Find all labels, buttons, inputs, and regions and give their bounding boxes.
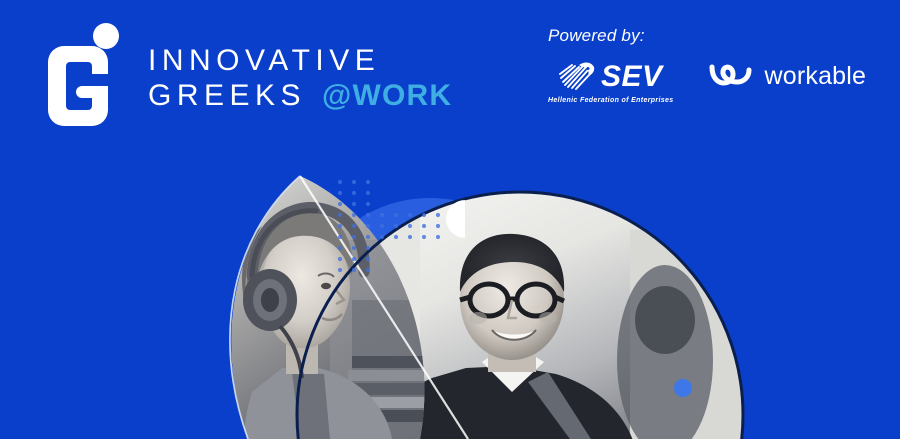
decor-arc-dot xyxy=(674,379,692,397)
workable-wordmark: workable xyxy=(765,64,867,89)
partner-logo-workable[interactable]: workable xyxy=(708,59,867,104)
sev-wordmark: SEV xyxy=(601,62,663,92)
sev-tagline: Hellenic Federation of Enterprises xyxy=(548,97,674,104)
dot-grid-pattern xyxy=(334,176,454,281)
sev-lion-emblem-icon xyxy=(559,58,597,95)
brand-line-atwork: @WORK xyxy=(322,81,452,112)
innovative-greeks-g-logo-icon xyxy=(44,22,126,130)
partner-logo-sev[interactable]: SEV Hellenic Federation of Enterprises xyxy=(548,58,674,104)
brand-line-greeks: GREEKS xyxy=(148,81,306,112)
banner-root: INNOVATIVE GREEKS @WORK Powered by: xyxy=(0,0,900,439)
brand-line-innovative: INNOVATIVE xyxy=(148,46,452,77)
powered-by-label: Powered by: xyxy=(548,26,888,46)
powered-by-block: Powered by: xyxy=(548,26,888,104)
brand-lockup: INNOVATIVE GREEKS @WORK xyxy=(44,22,452,130)
brand-wordmark: INNOVATIVE GREEKS @WORK xyxy=(148,40,452,111)
workable-swoosh-icon xyxy=(708,59,754,94)
partner-logo-row: SEV Hellenic Federation of Enterprises w… xyxy=(548,58,888,104)
